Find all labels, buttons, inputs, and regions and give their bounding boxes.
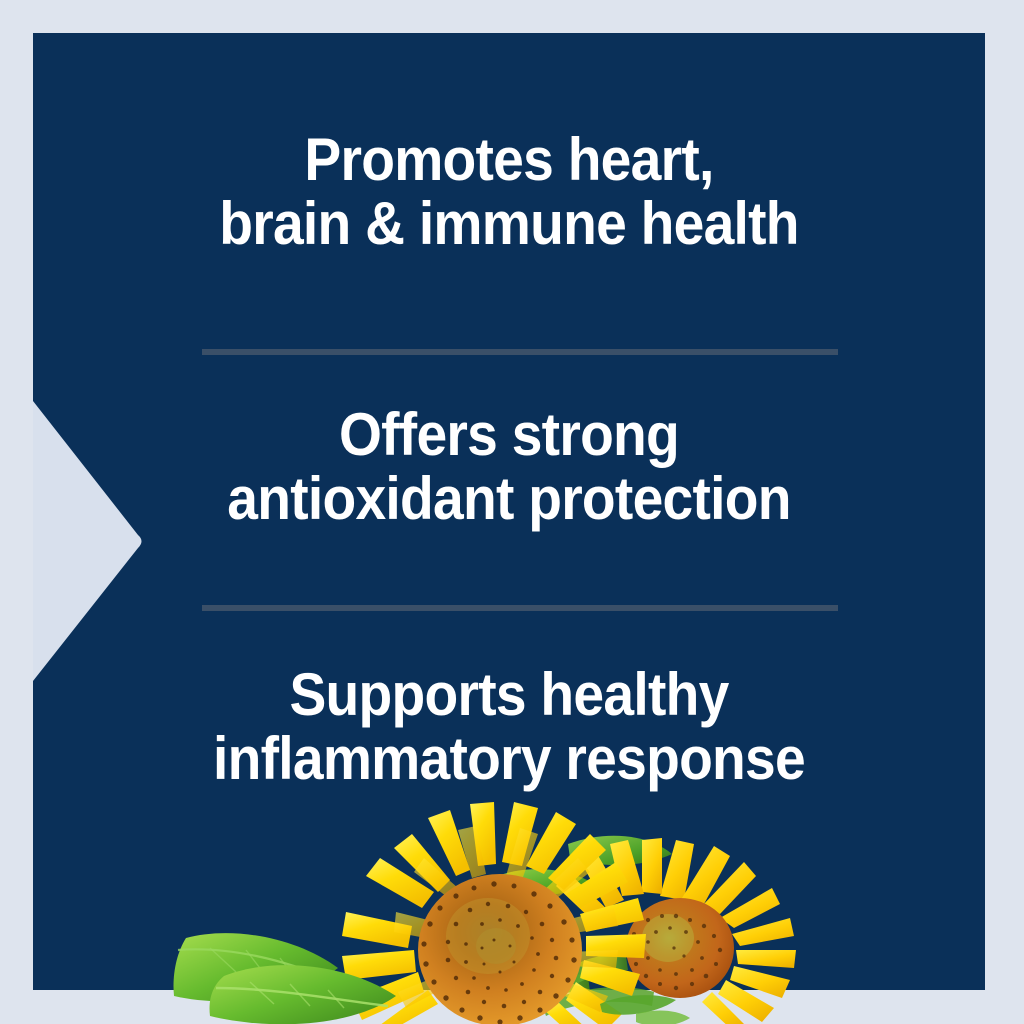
benefit-item-inflammatory-response: Supports healthy inflammatory response xyxy=(71,663,947,791)
benefits-panel: Promotes heart, brain & immune health Of… xyxy=(33,33,985,990)
benefit-divider-2 xyxy=(202,605,838,611)
benefit-item-antioxidant: Offers strong antioxidant protection xyxy=(71,403,947,531)
benefit-item-heart-brain-immune: Promotes heart, brain & immune health xyxy=(71,128,947,256)
promo-graphic: Promotes heart, brain & immune health Of… xyxy=(0,0,1024,1024)
benefit-divider-1 xyxy=(202,349,838,355)
chevron-right-accent-icon xyxy=(33,401,145,681)
